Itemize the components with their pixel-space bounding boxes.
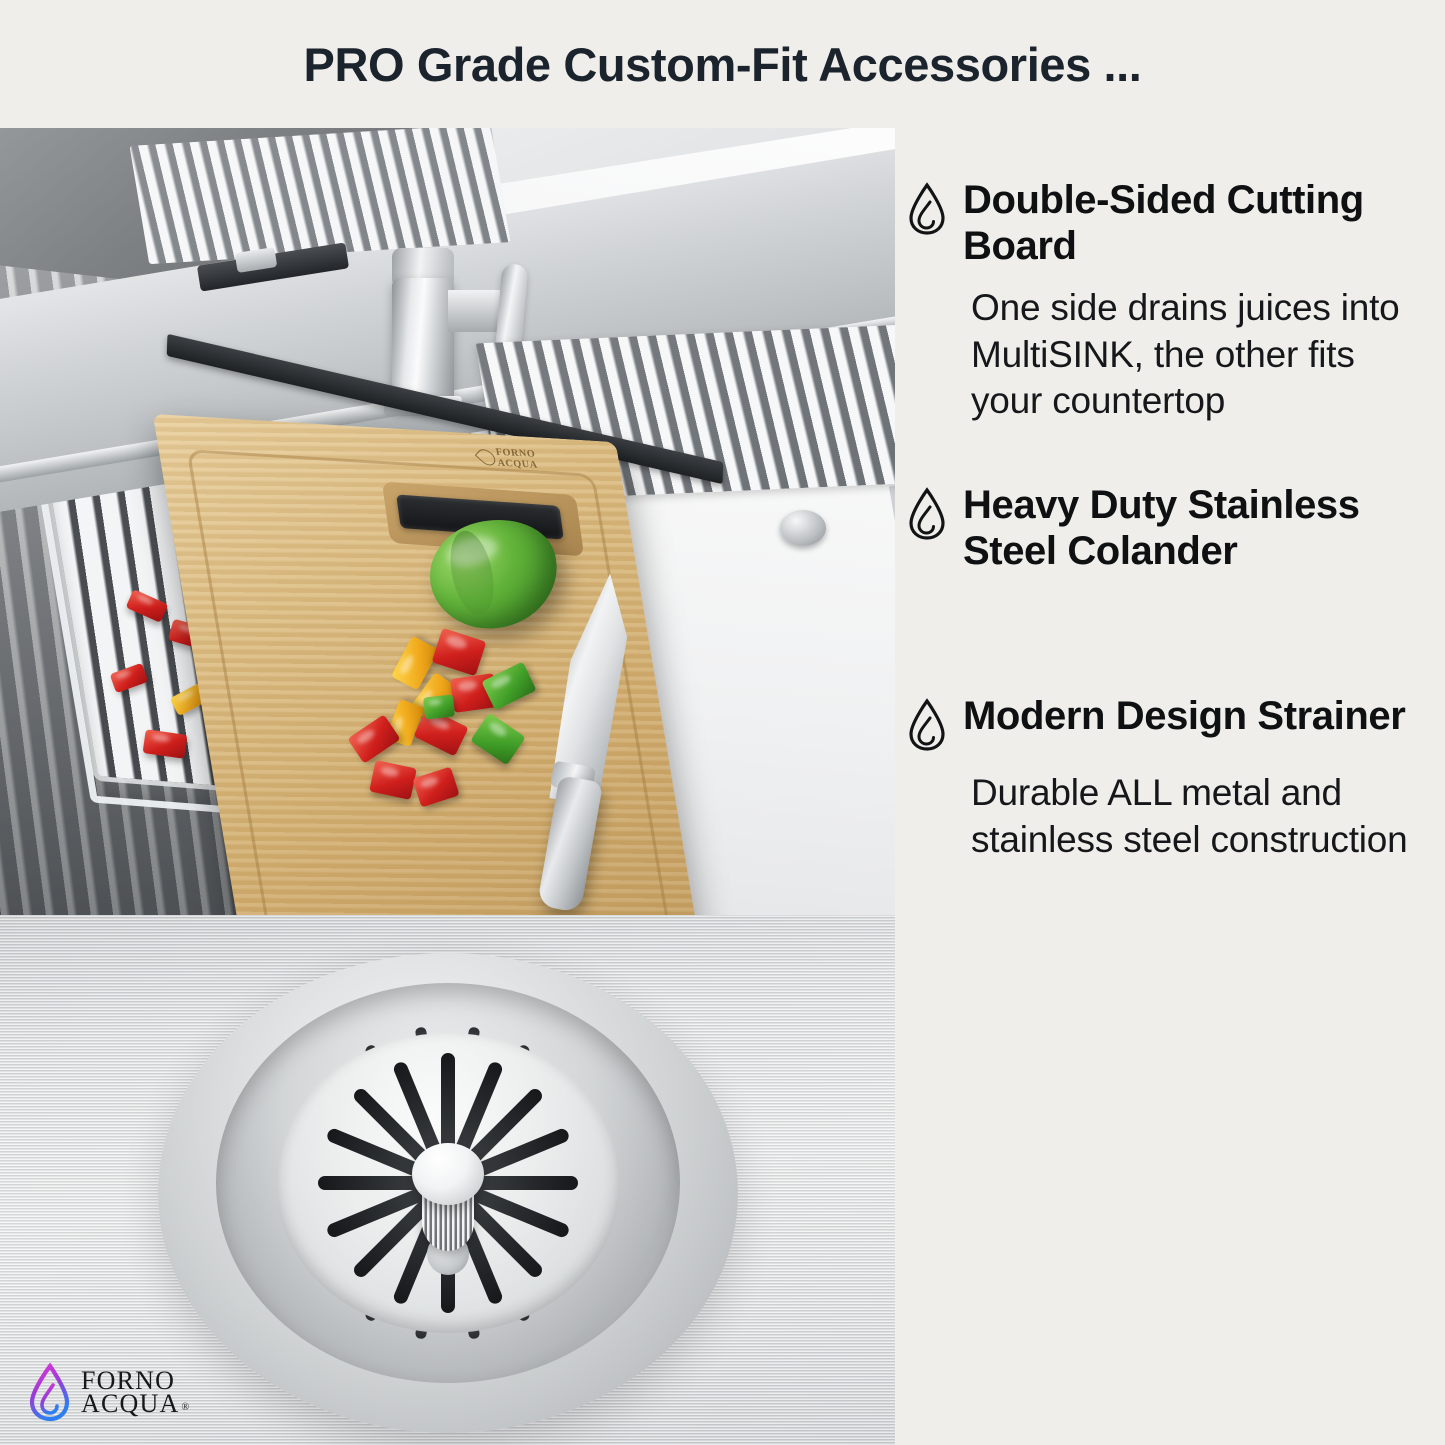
header: PRO Grade Custom-Fit Accessories ...	[0, 0, 1445, 128]
features-column: Double-Sided Cutting Board One side drai…	[905, 128, 1445, 1445]
feature-title: Double-Sided Cutting Board	[963, 178, 1429, 269]
strainer-slot	[441, 1053, 455, 1157]
registered-mark: ®	[181, 1404, 190, 1413]
sink-with-cutting-board-photo: FORNO ACQUA	[0, 128, 895, 915]
water-drop-icon	[905, 182, 949, 238]
feature-body: One side drains juices into MultiSINK, t…	[971, 285, 1429, 425]
feature-cutting-board: Double-Sided Cutting Board One side drai…	[905, 178, 1429, 425]
feature-colander: Heavy Duty Stainless Steel Colander	[905, 483, 1429, 574]
feature-heading-row: Modern Design Strainer	[905, 694, 1429, 754]
strainer-slot	[474, 1176, 578, 1190]
water-drop-icon	[905, 698, 949, 754]
feature-body: Durable ALL metal and stainless steel co…	[971, 770, 1429, 863]
strainer-center-knob	[412, 1143, 484, 1205]
cutting-board-brand-stamp: FORNO ACQUA	[478, 446, 573, 494]
brand-line-2: ACQUA	[81, 1393, 179, 1416]
strainer-slot	[318, 1176, 422, 1190]
brand-wordmark: FORNO ACQUA ®	[81, 1370, 190, 1416]
water-drop-icon	[905, 487, 949, 543]
feature-title: Modern Design Strainer	[963, 694, 1405, 740]
brand-logo: FORNO ACQUA ®	[26, 1363, 190, 1423]
feature-heading-row: Double-Sided Cutting Board	[905, 178, 1429, 269]
chopped-pepper-piece	[423, 694, 455, 719]
sink-scene: FORNO ACQUA	[0, 128, 895, 915]
feature-heading-row: Heavy Duty Stainless Steel Colander	[905, 483, 1429, 574]
infographic-page: PRO Grade Custom-Fit Accessories ...	[0, 0, 1445, 1445]
forno-acqua-drop-icon	[26, 1363, 72, 1423]
photo-column: FORNO ACQUA	[0, 128, 895, 1445]
page-title: PRO Grade Custom-Fit Accessories ...	[304, 37, 1142, 92]
drain-grooves-left	[129, 128, 510, 264]
deck-knob	[780, 510, 826, 546]
stamp-line-2: ACQUA	[497, 458, 539, 471]
feature-strainer: Modern Design Strainer Durable ALL metal…	[905, 694, 1429, 863]
feature-title: Heavy Duty Stainless Steel Colander	[963, 483, 1429, 574]
